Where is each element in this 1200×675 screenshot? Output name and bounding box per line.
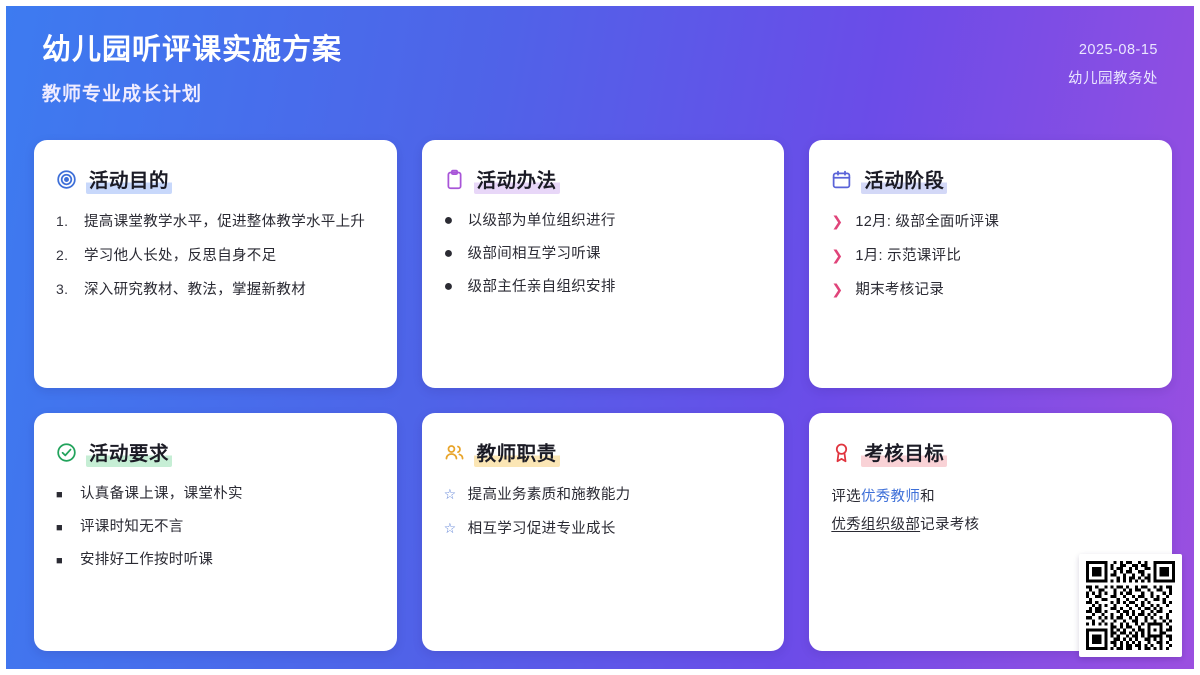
list-item: ❯12月: 级部全面听评课	[831, 211, 1150, 233]
list-item-text: 认真备课上课，课堂朴实	[80, 484, 243, 505]
list-item: ☆提高业务素质和施教能力	[444, 484, 763, 506]
link-excellent-org[interactable]: 优秀组织级部	[831, 517, 920, 533]
list-item: ●以级部为单位组织进行	[444, 211, 763, 232]
text-suffix: 记录考核	[920, 517, 979, 533]
slide-header: 幼儿园听评课实施方案 教师专业成长计划 2025-08-15 幼儿园教务处	[6, 6, 1194, 126]
text-prefix: 评选	[831, 489, 861, 505]
card-header: 活动阶段	[831, 164, 1150, 194]
list-marker: ■	[56, 521, 72, 537]
assessment-line-2: 优秀组织级部记录考核	[831, 512, 1150, 540]
card-list: ❯12月: 级部全面听评课 ❯1月: 示范课评比 ❯期末考核记录	[831, 211, 1150, 301]
card-list: ■认真备课上课，课堂朴实 ■评课时知无不言 ■安排好工作按时听课	[56, 484, 375, 571]
list-marker: ●	[444, 213, 460, 229]
header-date: 2025-08-15	[1068, 42, 1158, 58]
card-title: 活动要求	[86, 437, 172, 467]
clipboard-icon	[444, 169, 465, 190]
slide-root: 幼儿园听评课实施方案 教师专业成长计划 2025-08-15 幼儿园教务处 活动…	[0, 0, 1200, 675]
list-item-text: 提高业务素质和施教能力	[468, 485, 631, 506]
list-item: ■安排好工作按时听课	[56, 550, 375, 571]
card-title: 活动办法	[474, 164, 560, 194]
list-item-text: 12月: 级部全面听评课	[855, 212, 999, 233]
list-item: ■评课时知无不言	[56, 517, 375, 538]
list-item: 1.提高课堂教学水平，促进整体教学水平上升	[56, 211, 375, 233]
link-excellent-teacher[interactable]: 优秀教师	[861, 489, 920, 505]
card-header: 教师职责	[444, 437, 763, 467]
list-item: 2.学习他人长处，反思自身不足	[56, 245, 375, 267]
chevron-right-icon: ❯	[831, 211, 847, 231]
list-marker: ■	[56, 488, 72, 504]
qr-code-image	[1086, 561, 1175, 650]
list-item-text: 安排好工作按时听课	[80, 550, 213, 571]
star-icon: ☆	[444, 518, 460, 538]
star-icon: ☆	[444, 484, 460, 504]
assessment-paragraph: 评选优秀教师和 优秀组织级部记录考核	[831, 484, 1150, 539]
list-item-text: 级部间相互学习听课	[468, 244, 601, 265]
page-subtitle: 教师专业成长计划	[42, 79, 342, 106]
chevron-right-icon: ❯	[831, 245, 847, 265]
card-list: 1.提高课堂教学水平，促进整体教学水平上升 2.学习他人长处，反思自身不足 3.…	[56, 211, 375, 301]
list-item: ■认真备课上课，课堂朴实	[56, 484, 375, 505]
list-item: ❯期末考核记录	[831, 279, 1150, 301]
target-icon	[56, 169, 77, 190]
chevron-right-icon: ❯	[831, 279, 847, 299]
card-header: 活动要求	[56, 437, 375, 467]
list-marker: 3.	[56, 279, 76, 299]
list-marker: 2.	[56, 245, 76, 265]
page-title: 幼儿园听评课实施方案	[42, 32, 342, 68]
list-item-text: 以级部为单位组织进行	[468, 211, 616, 232]
text-suffix: 和	[920, 489, 935, 505]
list-item-text: 1月: 示范课评比	[855, 246, 961, 267]
card-list: ☆提高业务素质和施教能力 ☆相互学习促进专业成长	[444, 484, 763, 540]
list-item: ●级部主任亲自组织安排	[444, 277, 763, 298]
list-item-text: 评课时知无不言	[80, 517, 184, 538]
card-header: 活动目的	[56, 164, 375, 194]
card-list: ●以级部为单位组织进行 ●级部间相互学习听课 ●级部主任亲自组织安排	[444, 211, 763, 298]
list-marker: ■	[56, 554, 72, 570]
list-item-text: 提高课堂教学水平，促进整体教学水平上升	[84, 212, 365, 233]
award-icon	[831, 442, 852, 463]
list-item: ☆相互学习促进专业成长	[444, 518, 763, 540]
users-icon	[444, 442, 465, 463]
header-meta: 2025-08-15 幼儿园教务处	[1068, 32, 1166, 88]
list-item-text: 级部主任亲自组织安排	[468, 277, 616, 298]
card-title: 考核目标	[861, 437, 947, 467]
card-requirements[interactable]: 活动要求 ■认真备课上课，课堂朴实 ■评课时知无不言 ■安排好工作按时听课	[34, 413, 397, 651]
assessment-line-1: 评选优秀教师和	[831, 484, 1150, 512]
card-stages[interactable]: 活动阶段 ❯12月: 级部全面听评课 ❯1月: 示范课评比 ❯期末考核记录	[809, 140, 1172, 388]
card-title: 教师职责	[474, 437, 560, 467]
list-marker: 1.	[56, 211, 76, 231]
card-grid: 活动目的 1.提高课堂教学水平，促进整体教学水平上升 2.学习他人长处，反思自身…	[34, 140, 1172, 651]
list-item-text: 相互学习促进专业成长	[468, 519, 616, 540]
list-marker: ●	[444, 246, 460, 262]
card-purpose[interactable]: 活动目的 1.提高课堂教学水平，促进整体教学水平上升 2.学习他人长处，反思自身…	[34, 140, 397, 388]
card-duties[interactable]: 教师职责 ☆提高业务素质和施教能力 ☆相互学习促进专业成长	[422, 413, 785, 651]
list-item: 3.深入研究教材、教法，掌握新教材	[56, 279, 375, 301]
card-method[interactable]: 活动办法 ●以级部为单位组织进行 ●级部间相互学习听课 ●级部主任亲自组织安排	[422, 140, 785, 388]
list-item-text: 期末考核记录	[855, 280, 944, 301]
list-item-text: 深入研究教材、教法，掌握新教材	[84, 280, 306, 301]
qr-code[interactable]	[1079, 554, 1182, 657]
card-header: 考核目标	[831, 437, 1150, 467]
card-title: 活动目的	[86, 164, 172, 194]
calendar-icon	[831, 169, 852, 190]
check-circle-icon	[56, 442, 77, 463]
card-title: 活动阶段	[861, 164, 947, 194]
list-marker: ●	[444, 279, 460, 295]
list-item: ❯1月: 示范课评比	[831, 245, 1150, 267]
card-header: 活动办法	[444, 164, 763, 194]
header-org: 幼儿园教务处	[1068, 67, 1158, 88]
list-item: ●级部间相互学习听课	[444, 244, 763, 265]
list-item-text: 学习他人长处，反思自身不足	[84, 246, 276, 267]
title-block: 幼儿园听评课实施方案 教师专业成长计划	[34, 32, 342, 106]
